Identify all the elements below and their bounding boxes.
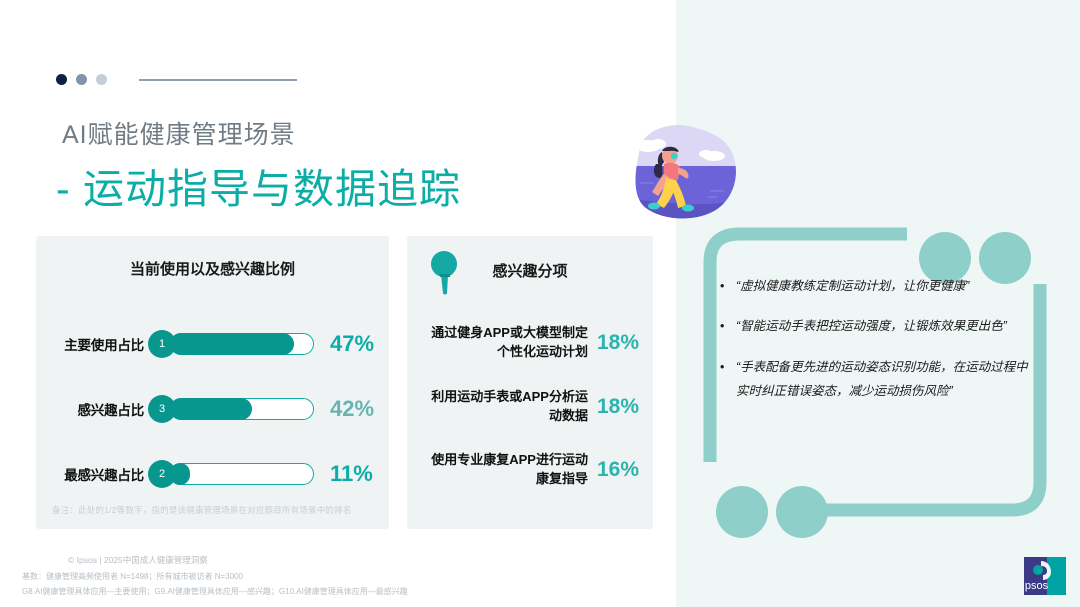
chart-card-title: 当前使用以及感兴趣比例: [36, 236, 389, 279]
chart-card-usage: 当前使用以及感兴趣比例 主要使用占比 1 47% 感兴趣占比 3 42%: [36, 236, 389, 529]
footer-base: 基数：健康管理高频使用者 N=1498；所有城市被访者 N=3000: [22, 571, 408, 582]
quote-panel: • “虚拟健康教练定制运动计划，让你更健康” • “智能运动手表把控运动强度，让…: [700, 212, 1050, 562]
running-woman-illustration: [618, 118, 746, 222]
bar-label: 主要使用占比: [44, 334, 148, 354]
quote-item: • “智能运动手表把控运动强度，让锻炼效果更出色”: [720, 314, 1040, 338]
list-item-label: 使用专业康复APP进行运动康复指导: [420, 451, 588, 489]
list-item: 通过健身APP或大模型制定个性化运动计划 18%: [407, 324, 653, 362]
bar-fill: [170, 333, 294, 355]
chart-footnote: 备注：此处的1/2等数字，指的是该健康管理场景在对应题目所有场景中的排名: [52, 504, 352, 516]
header-dots: [56, 74, 297, 85]
quote-bullet: •: [720, 355, 736, 404]
footer: © Ipsos | 2025中国成人健康管理洞察 基数：健康管理高频使用者 N=…: [22, 554, 408, 597]
footer-copyright: © Ipsos | 2025中国成人健康管理洞察: [68, 554, 408, 566]
bar-track-wrap: 1: [148, 330, 314, 358]
page-subtitle: AI赋能健康管理场景: [62, 115, 296, 151]
bar-row: 感兴趣占比 3 42%: [36, 387, 389, 431]
page-title: - 运动指导与数据追踪: [56, 155, 461, 215]
quote-text: “虚拟健康教练定制运动计划，让你更健康”: [736, 274, 1040, 298]
header-dot-1: [56, 74, 67, 85]
list-item-value: 16%: [597, 458, 639, 482]
interest-breakdown-card: 感兴趣分项 通过健身APP或大模型制定个性化运动计划 18% 利用运动手表或AP…: [407, 236, 653, 529]
quote-bullet: •: [720, 314, 736, 338]
bar-row: 主要使用占比 1 47%: [36, 322, 389, 366]
bar-fill: [170, 398, 252, 420]
quote-bullet: •: [720, 274, 736, 298]
footer-questions: G8.AI健康管理具体应用—主要使用；G9.AI健康管理具体应用—感兴趣；G10…: [22, 586, 408, 597]
quote-text: “手表配备更先进的运动姿态识别功能，在运动过程中实时纠正错误姿态，减少运动损伤风…: [736, 355, 1040, 404]
bar-track-wrap: 3: [148, 395, 314, 423]
list-item-value: 18%: [597, 395, 639, 419]
bar-value-label: 11%: [330, 461, 373, 487]
quote-item: • “手表配备更先进的运动姿态识别功能，在运动过程中实时纠正错误姿态，减少运动损…: [720, 355, 1040, 404]
bar-label: 最感兴趣占比: [44, 464, 148, 484]
ping-pong-paddle-icon: [424, 248, 468, 298]
bar-rank-badge: 1: [148, 330, 176, 358]
bar-value-label: 42%: [330, 396, 374, 422]
quote-item: • “虚拟健康教练定制运动计划，让你更健康”: [720, 274, 1040, 298]
header-dot-3: [96, 74, 107, 85]
bar-track-wrap: 2: [148, 460, 314, 488]
bar-value-label: 47%: [330, 331, 374, 357]
bar-label: 感兴趣占比: [44, 399, 148, 419]
list-item-label: 通过健身APP或大模型制定个性化运动计划: [420, 324, 588, 362]
quote-text: “智能运动手表把控运动强度，让锻炼效果更出色”: [736, 314, 1040, 338]
logo-text: Ipsos: [1024, 580, 1049, 592]
bar-rank-badge: 3: [148, 395, 176, 423]
header-dot-2: [76, 74, 87, 85]
bar-chart: 主要使用占比 1 47% 感兴趣占比 3 42% 最感兴趣占比: [36, 322, 389, 517]
list-item-value: 18%: [597, 331, 639, 355]
interest-list: 通过健身APP或大模型制定个性化运动计划 18% 利用运动手表或APP分析运动数…: [407, 324, 653, 515]
ipsos-logo: Ipsos: [1024, 557, 1066, 595]
header-rule: [139, 79, 297, 81]
slide-root: AI赋能健康管理场景 - 运动指导与数据追踪: [0, 0, 1080, 607]
bar-rank-badge: 2: [148, 460, 176, 488]
bar-track: [170, 463, 314, 485]
quote-list: • “虚拟健康教练定制运动计划，让你更健康” • “智能运动手表把控运动强度，让…: [720, 274, 1040, 420]
list-item: 利用运动手表或APP分析运动数据 18%: [407, 388, 653, 426]
list-item-label: 利用运动手表或APP分析运动数据: [420, 388, 588, 426]
list-item: 使用专业康复APP进行运动康复指导 16%: [407, 451, 653, 489]
bar-row: 最感兴趣占比 2 11%: [36, 452, 389, 496]
